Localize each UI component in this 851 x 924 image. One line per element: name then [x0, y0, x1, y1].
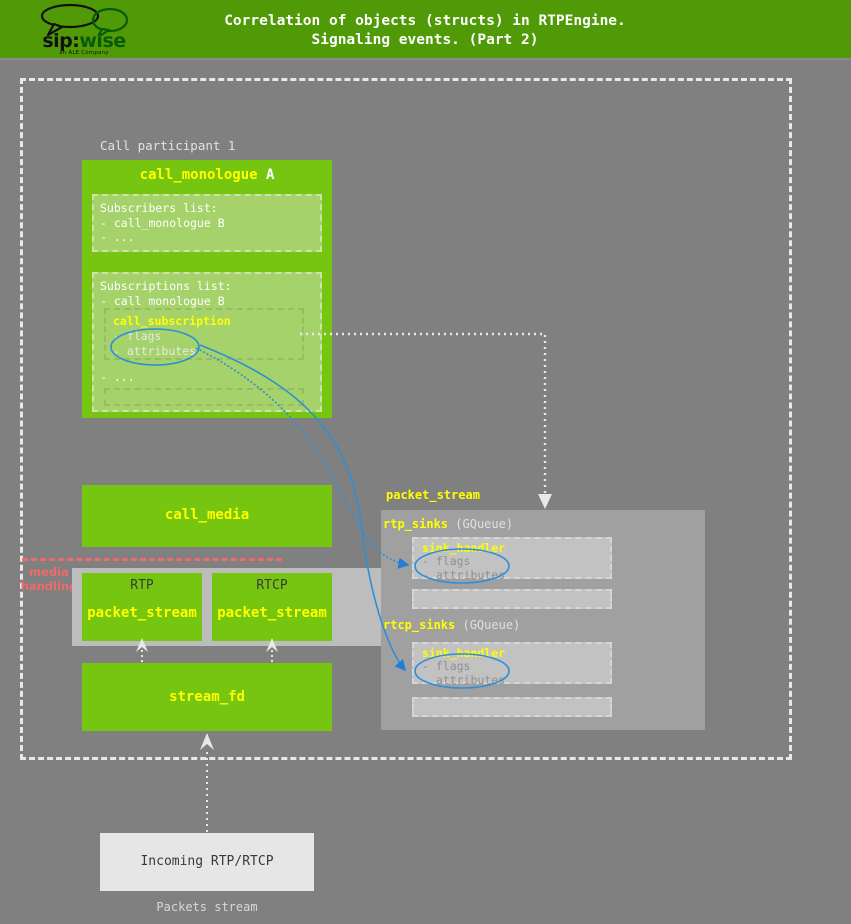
page-title: Correlation of objects (structs) in RTPE… — [170, 12, 680, 50]
incoming-rtp-rtcp-title: Incoming RTP/RTCP — [100, 854, 314, 869]
rtcp-sink-handler-box: sink_handler - flags - attributes — [412, 642, 612, 684]
rtcp-sinks-type: (GQueue) — [462, 618, 520, 632]
subscribers-item-0: - call_monologue B — [100, 216, 314, 231]
rtp-sinks-name: rtp_sinks — [383, 517, 448, 531]
subscriptions-item-last: - ... — [100, 370, 135, 385]
media-handling-divider — [22, 558, 282, 561]
rtcp-sink-empty-slot — [412, 697, 612, 717]
rtcp-packet-stream-sub: RTCP — [212, 578, 332, 593]
call-monologue-a-title: call_monologue A — [82, 167, 332, 183]
rtcp-packet-stream-box: RTCP packet_stream — [212, 573, 332, 641]
rtp-sinks-label: rtp_sinks (GQueue) — [383, 517, 513, 531]
stream-fd-box: stream_fd — [82, 663, 332, 731]
media-handling-line2: handling — [18, 579, 80, 593]
page-title-line1: Correlation of objects (structs) in RTPE… — [170, 12, 680, 31]
logo-wordmark: sip:wise — [28, 32, 140, 51]
logo-wise: wise — [79, 30, 125, 52]
call-subscription-title: call_subscription — [113, 314, 295, 329]
packet-stream-panel-label: packet_stream — [386, 488, 480, 502]
subscribers-heading: Subscribers list: — [100, 201, 314, 216]
sipwise-logo: sip:wise an ALE Company — [28, 2, 140, 58]
page-title-line2: Signaling events. (Part 2) — [170, 31, 680, 50]
stream-fd-title: stream_fd — [82, 689, 332, 705]
rtcp-sink-handler-field-1: - attributes — [422, 673, 505, 687]
media-handling-line1: media — [18, 565, 80, 579]
app-header: sip:wise an ALE Company Correlation of o… — [0, 0, 851, 60]
rtp-sink-handler-title: sink_handler — [422, 541, 505, 555]
media-handling-label: media handling — [18, 565, 80, 593]
rtcp-sinks-label: rtcp_sinks (GQueue) — [383, 618, 520, 632]
packets-stream-label: Packets stream — [100, 900, 314, 914]
packet-stream-panel: rtp_sinks (GQueue) sink_handler - flags … — [381, 510, 705, 730]
subscriptions-item-0: - call monologue B — [100, 294, 314, 309]
call-monologue-a-title-suffix: A — [258, 167, 275, 183]
call-subscription-field-1: - attributes — [113, 344, 295, 359]
rtp-packet-stream-sub: RTP — [82, 578, 202, 593]
subscriptions-heading: Subscriptions list: — [100, 279, 314, 294]
rtcp-packet-stream-title: packet_stream — [212, 605, 332, 621]
call-media-title: call_media — [82, 507, 332, 523]
subscribers-item-1: - ... — [100, 230, 314, 245]
rtp-sinks-type: (GQueue) — [455, 517, 513, 531]
subscribers-list-box: Subscribers list: - call_monologue B - .… — [92, 194, 322, 252]
call-subscription-empty-slot — [104, 388, 304, 406]
call-subscription-field-0: - flags — [113, 329, 295, 344]
call-media-box: call_media — [82, 485, 332, 547]
call-monologue-a-title-mono: call_monologue — [140, 167, 258, 183]
subscriptions-list-box: Subscriptions list: - call monologue B c… — [92, 272, 322, 412]
call-participant-label: Call participant 1 — [100, 138, 235, 153]
rtp-sink-empty-slot — [412, 589, 612, 609]
rtp-sink-handler-box: sink_handler - flags - attributes — [412, 537, 612, 579]
rtcp-sinks-name: rtcp_sinks — [383, 618, 455, 632]
logo-tagline: an ALE Company — [28, 50, 140, 56]
call-subscription-box: call_subscription - flags - attributes — [104, 308, 304, 360]
call-monologue-a-box: call_monologue A Subscribers list: - cal… — [82, 160, 332, 418]
rtcp-sink-handler-field-0: - flags — [422, 659, 470, 673]
rtcp-sink-handler-title: sink_handler — [422, 646, 505, 660]
logo-sip: sip: — [42, 30, 79, 52]
rtp-sink-handler-field-0: - flags — [422, 554, 470, 568]
rtp-sink-handler-field-1: - attributes — [422, 568, 505, 582]
incoming-rtp-rtcp-box: Incoming RTP/RTCP — [100, 833, 314, 891]
rtp-packet-stream-box: RTP packet_stream — [82, 573, 202, 641]
rtp-packet-stream-title: packet_stream — [82, 605, 202, 621]
